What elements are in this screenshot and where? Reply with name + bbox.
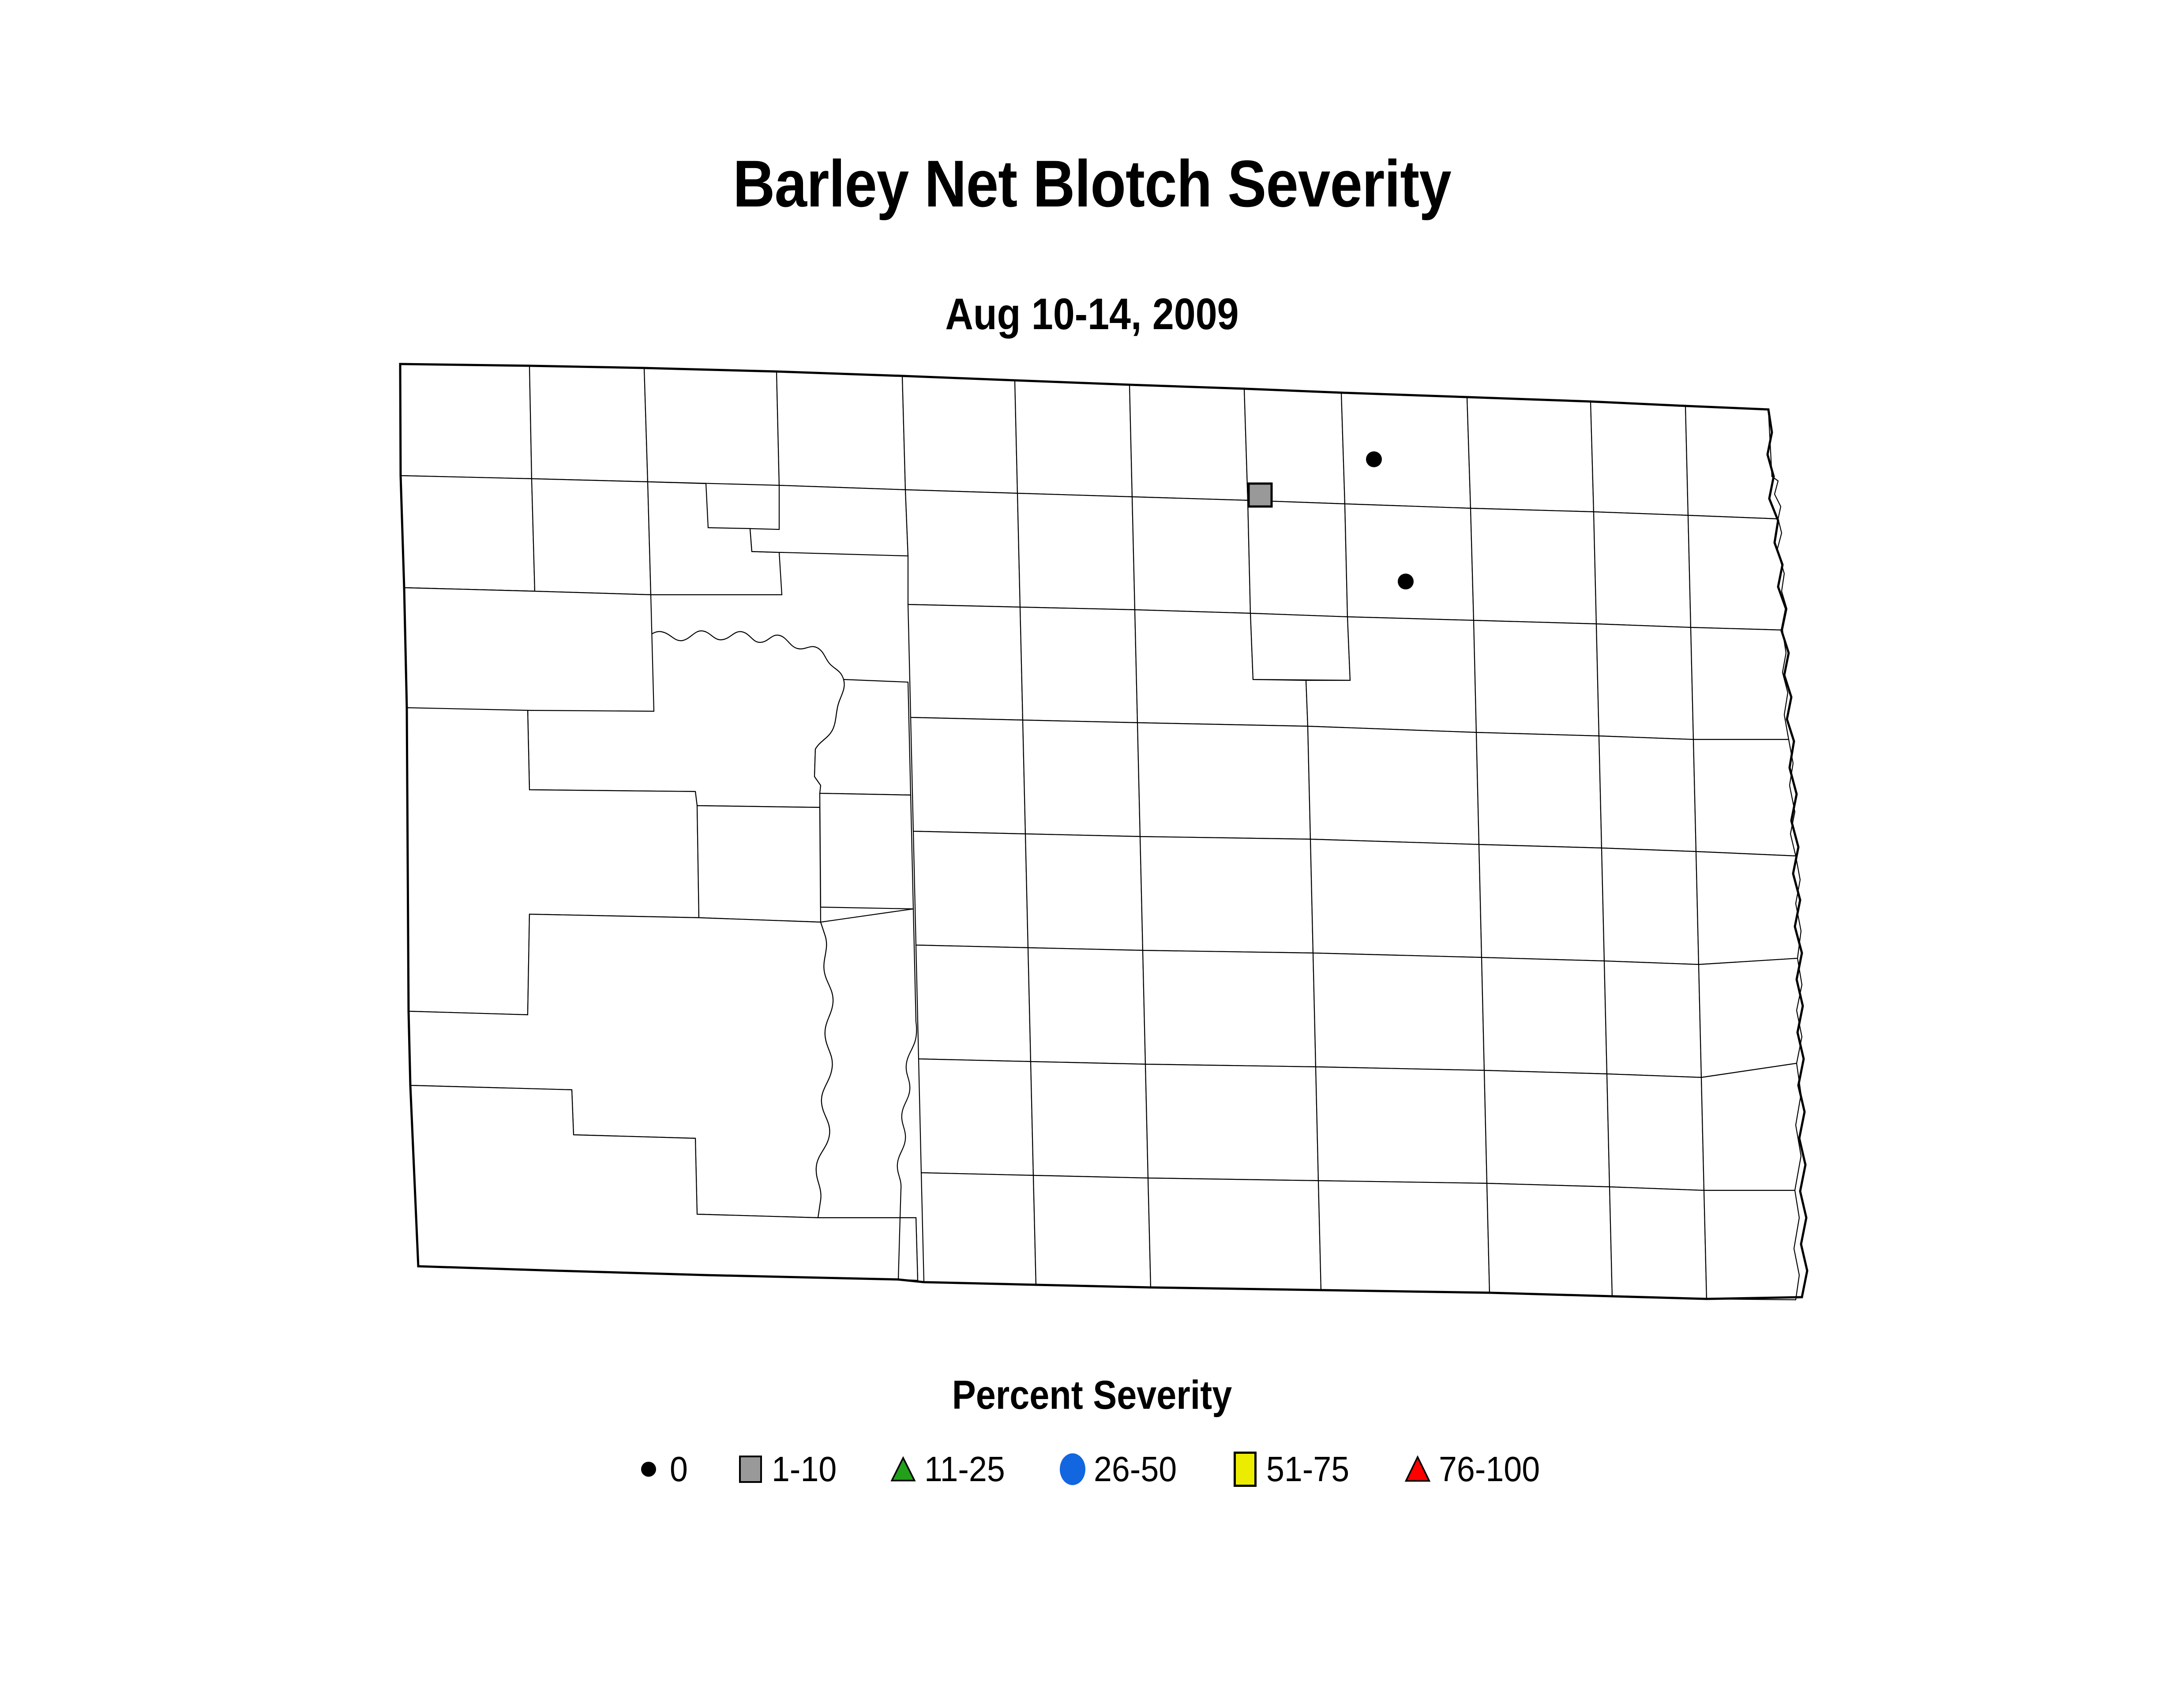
map-svg [309,344,1906,1328]
triangle-icon [890,1453,916,1485]
triangle-red-icon [1404,1453,1431,1485]
legend-label-11-25: 11-25 [924,1452,1005,1487]
legend-item-11-25[interactable]: 11-25 [890,1452,1012,1487]
circle-small-icon [635,1453,662,1485]
data-point-square-1-10 [1249,484,1272,507]
triangle-green-svg [890,1451,916,1488]
legend-title: Percent Severity [131,1372,2053,1418]
county-boundaries [400,364,1802,1300]
legend-item-1-10[interactable]: 1-10 [737,1452,842,1487]
legend-label-0: 0 [670,1452,688,1487]
legend-item-51-75[interactable]: 51-75 [1232,1452,1357,1487]
legend: 0 1-10 11-25 26-50 51-75 [0,1452,2184,1487]
legend-label-51-75: 51-75 [1266,1452,1349,1487]
legend-label-76-100: 76-100 [1439,1452,1540,1487]
data-point-dot-zero-2 [1398,574,1414,589]
legend-label-1-10: 1-10 [772,1452,837,1487]
page-title: Barley Net Blotch Severity [131,146,2053,222]
north-dakota-county-map [309,344,1906,1328]
legend-label-26-50: 26-50 [1094,1452,1177,1487]
data-point-dot-zero-1 [1366,451,1382,467]
legend-item-0[interactable]: 0 [635,1452,690,1487]
square-icon [737,1453,764,1485]
figure-canvas: Barley Net Blotch Severity Aug 10-14, 20… [0,0,2184,1696]
triangle-red-svg [1404,1446,1431,1492]
square-yellow-icon [1232,1453,1258,1485]
legend-item-26-50[interactable]: 26-50 [1059,1452,1184,1487]
circle-icon [1059,1453,1086,1485]
page-subtitle: Aug 10-14, 2009 [131,289,2053,340]
legend-item-76-100[interactable]: 76-100 [1404,1452,1549,1487]
